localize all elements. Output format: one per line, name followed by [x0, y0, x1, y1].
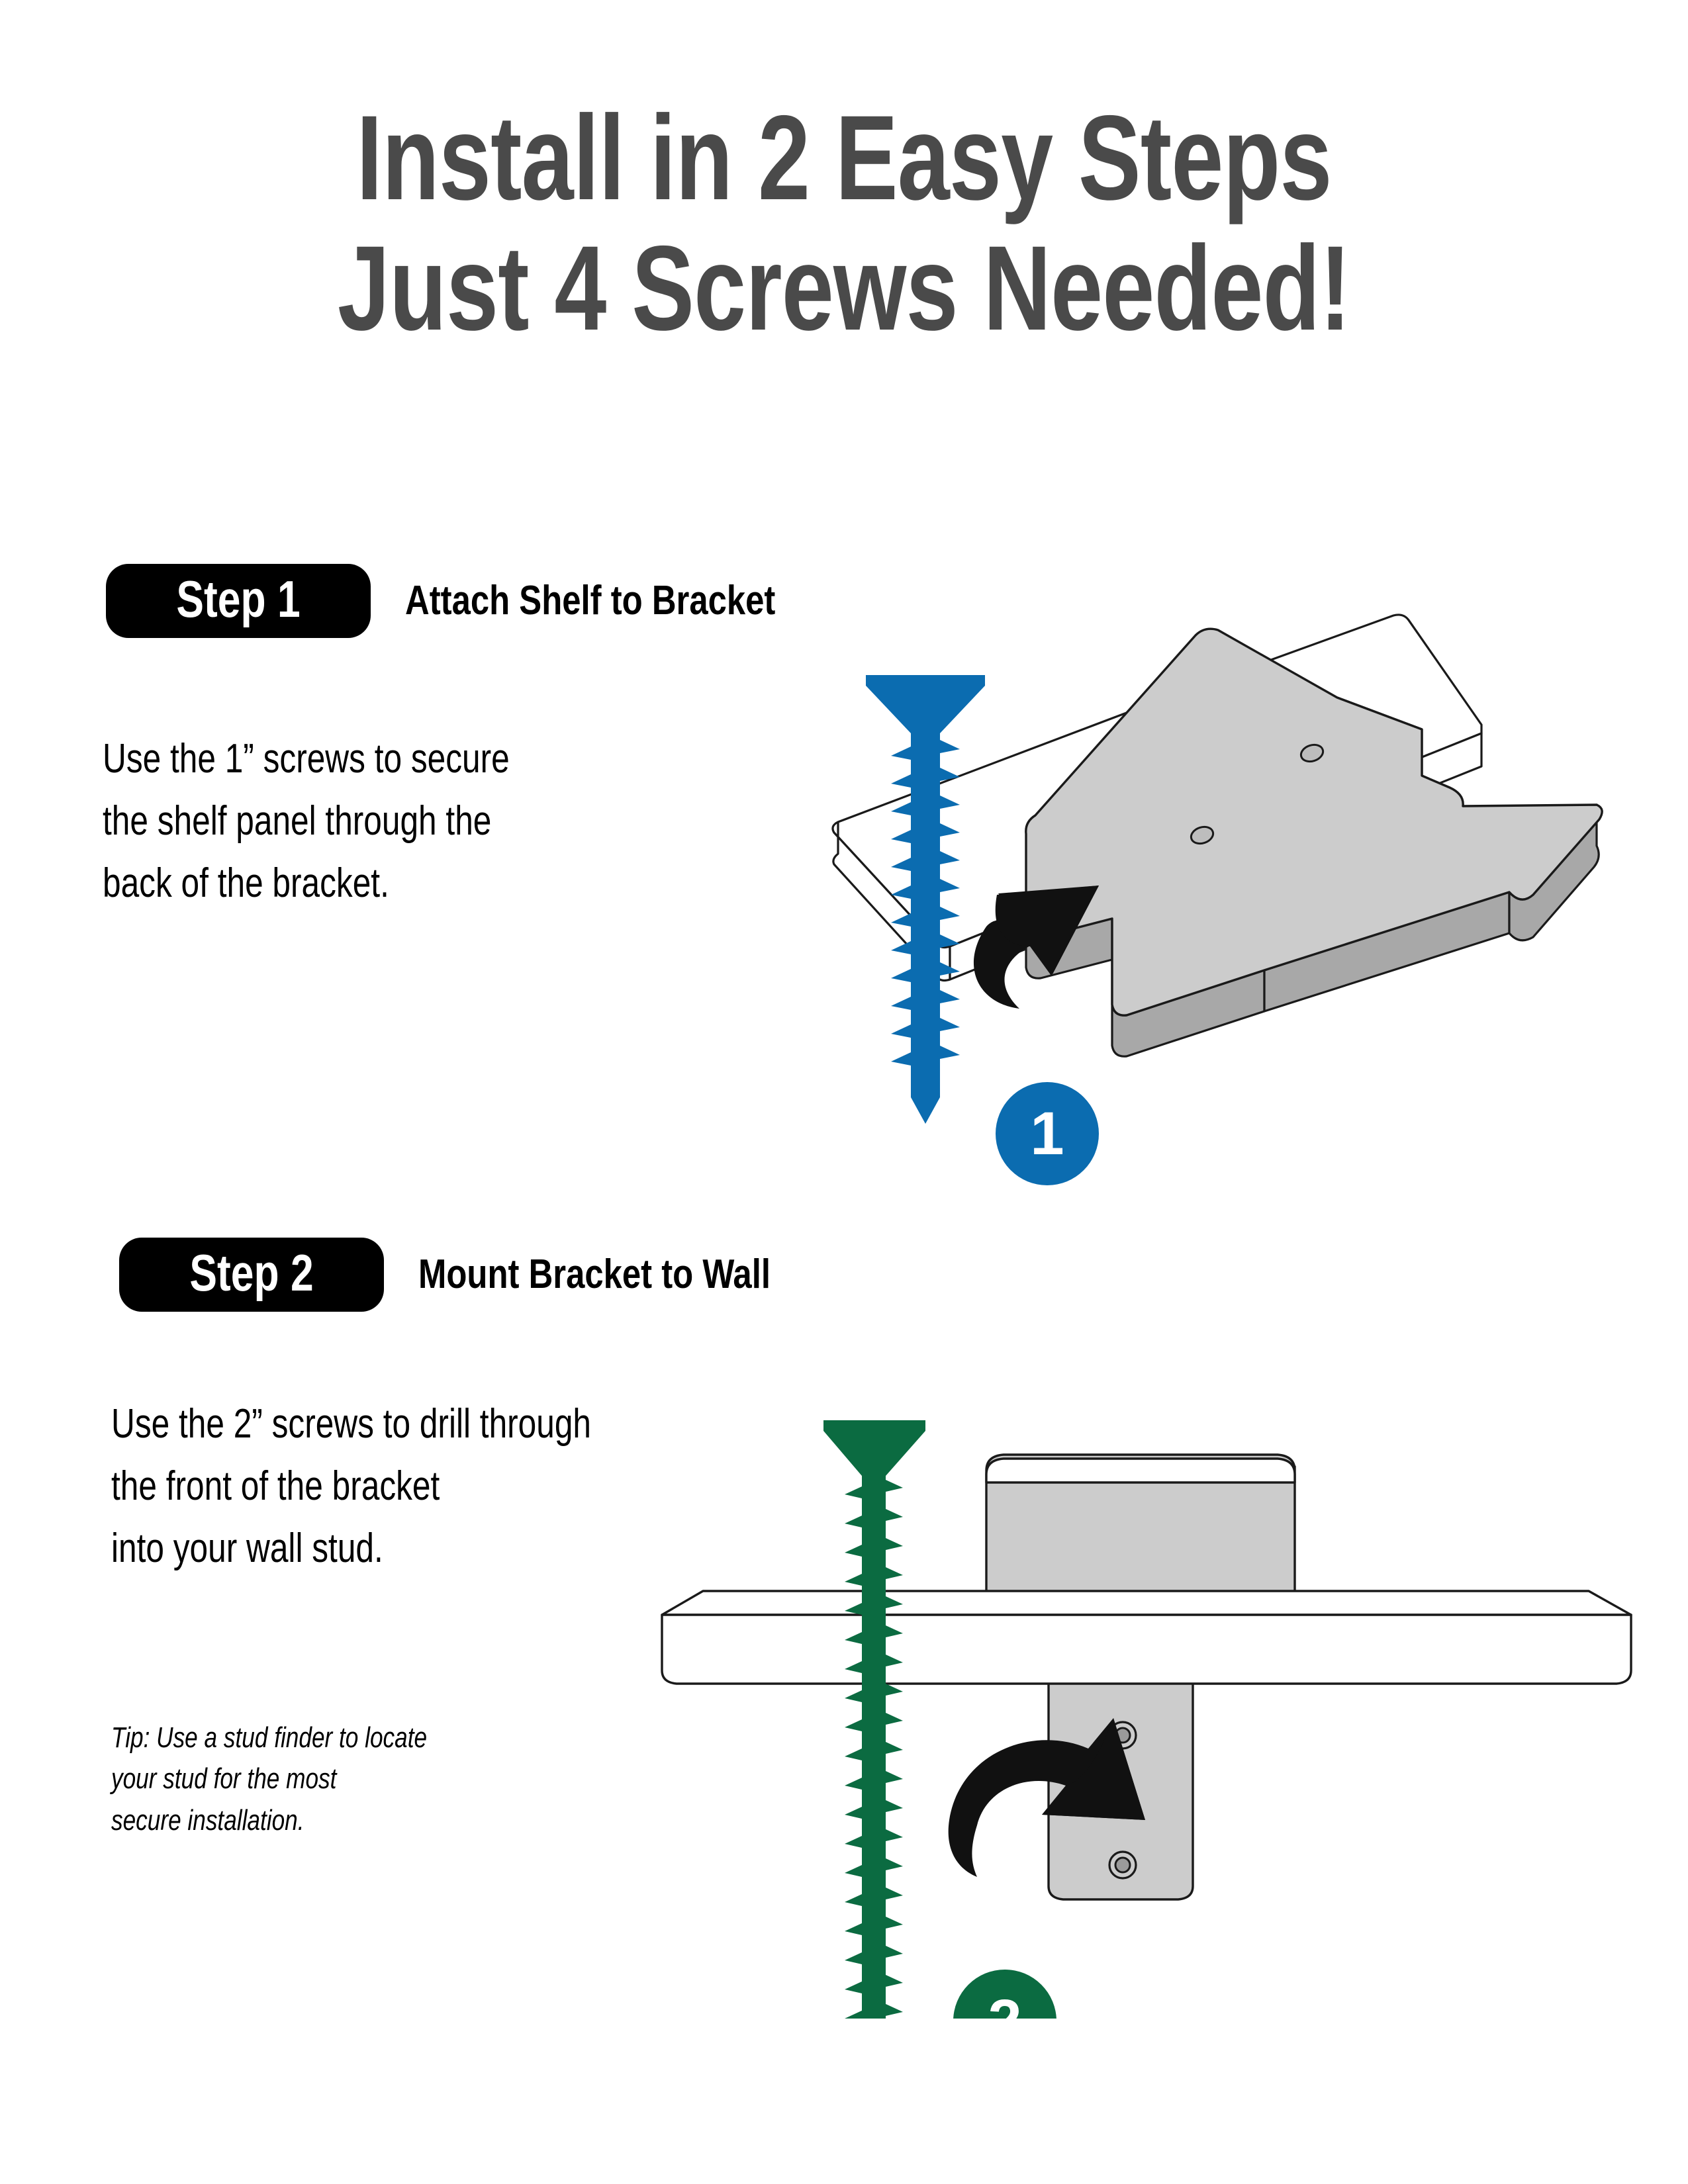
step-2-section: Step 2 Mount Bracket to Wall Use the 2” … — [0, 1224, 1688, 2151]
step-1-body-line-1: Use the 1” screws to secure — [103, 728, 510, 790]
step-1-body-text: Use the 1” screws to secure the shelf pa… — [103, 728, 611, 915]
step-2-header: Step 2 Mount Bracket to Wall — [119, 1238, 848, 1312]
step-2-heading: Mount Bracket to Wall — [418, 1254, 848, 1295]
step-2-tip-text: Tip: Use a stud finder to locate your st… — [111, 1717, 506, 1841]
step-1-body-line-3: back of the bracket. — [103, 852, 510, 915]
step-2-tip-line-1: Tip: Use a stud finder to locate — [111, 1717, 427, 1758]
step-1-badge: Step 1 — [106, 564, 371, 638]
shelf-board-side-view — [662, 1591, 1631, 1684]
step-1-illustration: 1 — [741, 523, 1628, 1221]
step-2-callout-number: 2 — [988, 1987, 1021, 2019]
page-title: Install in 2 Easy Steps Just 4 Screws Ne… — [0, 93, 1688, 353]
instruction-sheet: Install in 2 Easy Steps Just 4 Screws Ne… — [0, 0, 1688, 2184]
step-1-body-line-2: the shelf panel through the — [103, 790, 510, 852]
step-1-section: Step 1 Attach Shelf to Bracket Use the 1… — [0, 549, 1688, 1211]
step-2-badge: Step 2 — [119, 1238, 384, 1312]
step-2-body-line-1: Use the 2” screws to drill through — [111, 1393, 591, 1455]
green-screw-down-arrow — [823, 1420, 925, 2019]
step-2-tip-line-2: your stud for the most — [111, 1758, 427, 1799]
step-2-body-line-2: the front of the bracket — [111, 1455, 591, 1518]
title-line-1: Install in 2 Easy Steps — [186, 93, 1503, 223]
step-2-illustration: 2 — [616, 1357, 1648, 2022]
t-bracket-isometric — [1026, 629, 1602, 1056]
step-1-badge-label: Step 1 — [176, 573, 300, 625]
blue-number-badge: 1 — [996, 1082, 1099, 1185]
bracket-hole-lower — [1109, 1852, 1136, 1878]
step-2-badge-label: Step 2 — [189, 1247, 313, 1298]
green-number-badge: 2 — [953, 1970, 1056, 2019]
step-2-body-line-3: into your wall stud. — [111, 1518, 591, 1580]
step-2-tip-line-3: secure installation. — [111, 1800, 427, 1841]
step-1-callout-number: 1 — [1030, 1100, 1064, 1167]
title-line-2: Just 4 Screws Needed! — [186, 223, 1503, 353]
